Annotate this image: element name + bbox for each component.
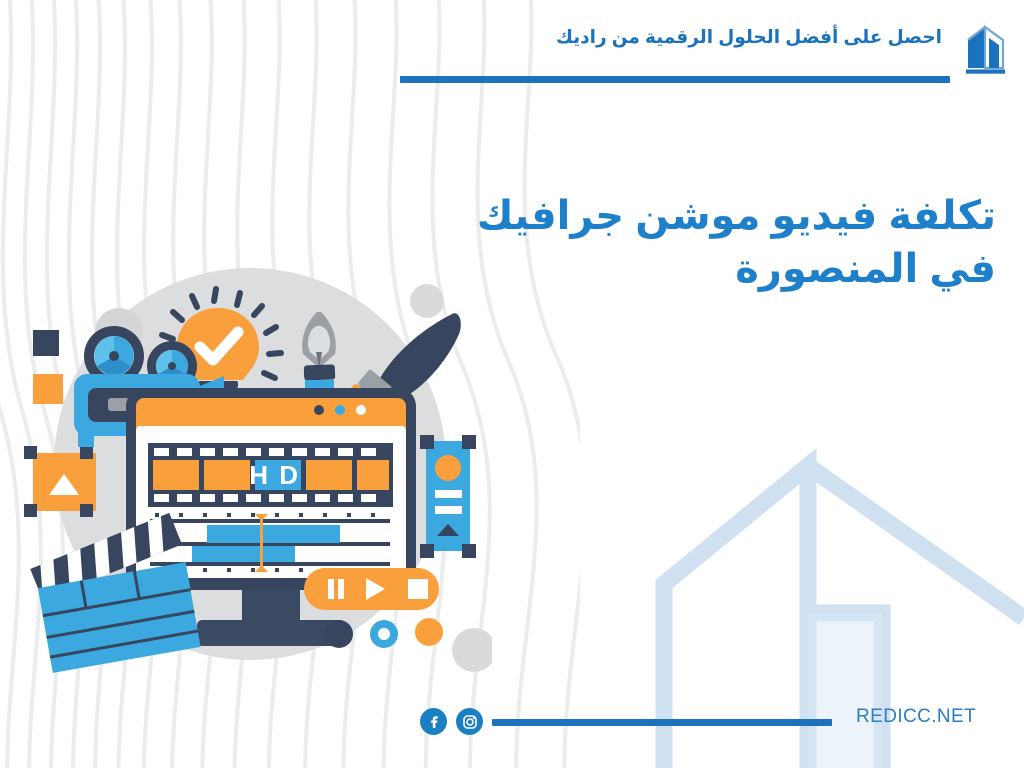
- timeline-icon: [150, 513, 390, 572]
- tagline-block: احصل على أفضل الحلول الرقمية من راديك: [400, 26, 950, 48]
- stop-button: [408, 579, 428, 599]
- facebook-icon[interactable]: [420, 708, 447, 735]
- tagline-underline: [400, 76, 950, 83]
- header: احصل على أفضل الحلول الرقمية من راديك: [400, 26, 1010, 96]
- footer: REDICC.NET: [0, 706, 1024, 740]
- banner-canvas: احصل على أفضل الحلول الرقمية من راديك تك…: [0, 0, 1024, 768]
- layers-panel-icon: [420, 435, 476, 558]
- pause-button: [328, 579, 334, 599]
- headline-line-1: تكلفة فيديو موشن جرافيك: [296, 190, 996, 243]
- footer-brand-text: REDICC.NET: [856, 706, 976, 728]
- media-controls-icon: [304, 568, 439, 610]
- film-strip-icon: H D: [148, 443, 393, 507]
- social-links: [420, 708, 483, 735]
- svg-text:H: H: [249, 460, 268, 490]
- svg-text:D: D: [279, 460, 298, 490]
- instagram-icon[interactable]: [456, 708, 483, 735]
- building-logo-icon: [958, 22, 1010, 74]
- tagline-text: احصل على أفضل الحلول الرقمية من راديك: [400, 26, 942, 48]
- motion-graphics-illustration: H D: [22, 268, 492, 680]
- crop-frame-icon: [24, 446, 96, 517]
- clapperboard-icon: [30, 513, 200, 673]
- footer-divider-line: [492, 719, 832, 726]
